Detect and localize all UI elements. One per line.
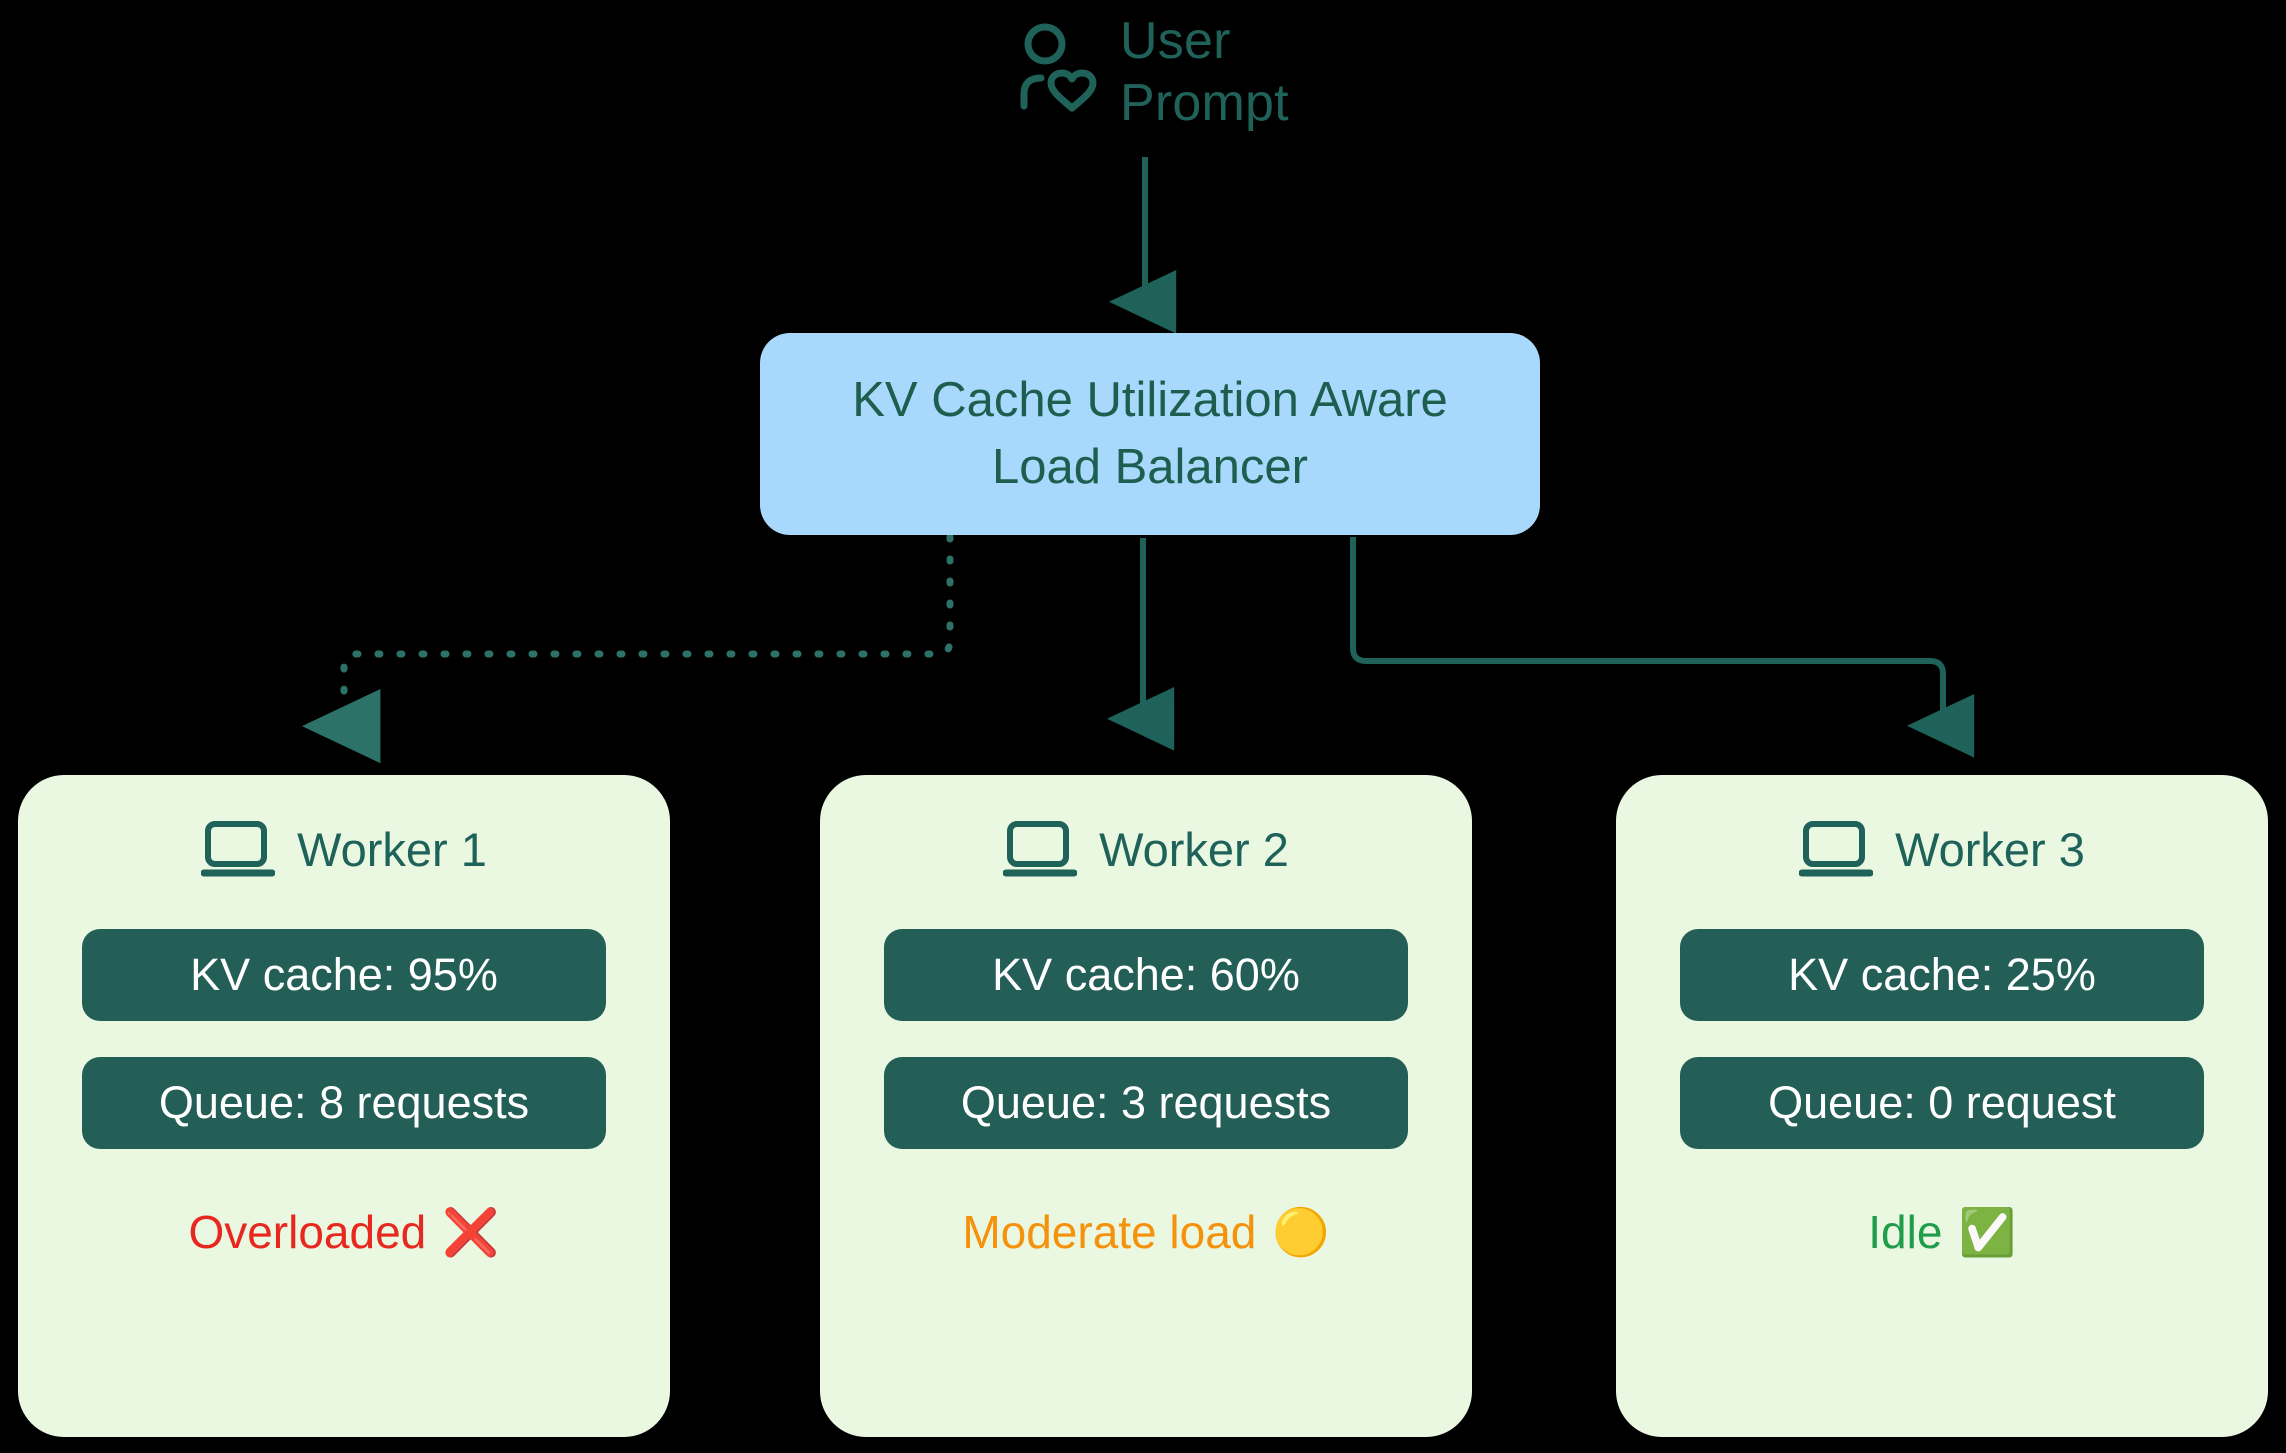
laptop-icon xyxy=(201,820,275,880)
edge-balancer-to-worker-1 xyxy=(344,537,950,724)
status-label: Idle xyxy=(1868,1205,1942,1259)
kv-cache-metric: KV cache: 95% xyxy=(82,929,606,1021)
status-badge: Moderate load 🟡 xyxy=(962,1205,1329,1259)
status-badge: Idle ✅ xyxy=(1868,1205,2015,1259)
kv-cache-metric: KV cache: 25% xyxy=(1680,929,2204,1021)
edge-balancer-to-worker-3 xyxy=(1353,537,1943,724)
yellow-circle-icon: 🟡 xyxy=(1272,1205,1329,1259)
status-label: Moderate load xyxy=(962,1205,1256,1259)
load-balancer-label: KV Cache Utilization Aware Load Balancer xyxy=(852,367,1448,501)
worker-header: Worker 3 xyxy=(1799,807,2085,893)
laptop-icon xyxy=(1003,820,1077,880)
user-prompt-node: User Prompt xyxy=(1020,10,1289,134)
worker-card-1[interactable]: Worker 1 KV cache: 95% Queue: 8 requests… xyxy=(18,775,670,1437)
status-label: Overloaded xyxy=(188,1205,426,1259)
kv-cache-metric: KV cache: 60% xyxy=(884,929,1408,1021)
worker-title: Worker 1 xyxy=(297,822,487,878)
laptop-icon xyxy=(1799,820,1873,880)
check-mark-button-icon: ✅ xyxy=(1958,1205,2015,1259)
worker-header: Worker 1 xyxy=(201,807,487,893)
worker-title: Worker 3 xyxy=(1895,822,2085,878)
worker-title: Worker 2 xyxy=(1099,822,1289,878)
worker-card-3[interactable]: Worker 3 KV cache: 25% Queue: 0 request … xyxy=(1616,775,2268,1437)
user-prompt-label: User Prompt xyxy=(1120,10,1289,134)
queue-metric: Queue: 0 request xyxy=(1680,1057,2204,1149)
status-badge: Overloaded ❌ xyxy=(188,1205,499,1259)
worker-card-2[interactable]: Worker 2 KV cache: 60% Queue: 3 requests… xyxy=(820,775,1472,1437)
worker-header: Worker 2 xyxy=(1003,807,1289,893)
queue-metric: Queue: 8 requests xyxy=(82,1057,606,1149)
queue-metric: Queue: 3 requests xyxy=(884,1057,1408,1149)
user-heart-icon xyxy=(1020,22,1098,112)
load-balancer-node[interactable]: KV Cache Utilization Aware Load Balancer xyxy=(760,333,1540,535)
diagram-canvas: User Prompt KV Cache Utilization Aware L… xyxy=(0,0,2286,1453)
cross-mark-icon: ❌ xyxy=(442,1205,499,1259)
